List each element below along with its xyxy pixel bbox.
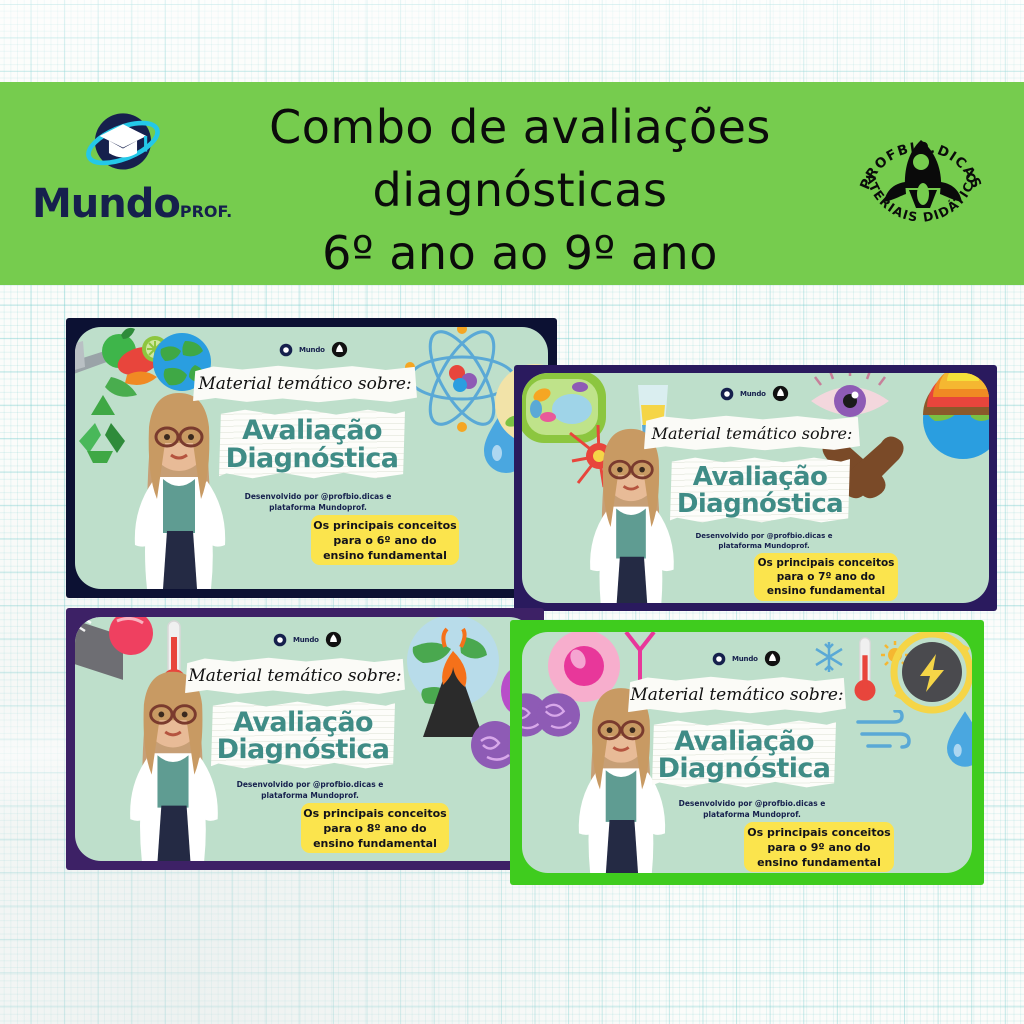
page-title: Combo de avaliações diagnósticas 6º ano … (225, 96, 815, 285)
card-8ano-highlight: Os principais conceitos para o 8º ano do… (301, 803, 449, 853)
card-6ano-dev-note: Desenvolvido por @profbio.dicas e plataf… (223, 491, 413, 513)
card-7ano-mini-brand: Mundo (720, 385, 789, 402)
card-7ano-dev-note: Desenvolvido por @profbio.dicas e plataf… (672, 531, 856, 551)
card-9ano-script-text: Material temático sobre: (628, 676, 846, 714)
mini-mundo-icon (273, 633, 287, 647)
card-7ano-inner: Mundo Material temático sobre: Avaliação… (522, 373, 989, 603)
card-8ano-script-strip: Material temático sobre: (185, 657, 405, 695)
card-8ano-dev-note: Desenvolvido por @profbio.dicas e plataf… (217, 779, 403, 801)
card-8ano[interactable]: Mundo Material temático sobre: Avaliação… (66, 608, 544, 870)
earth-layers-icon (915, 373, 989, 463)
card-9ano-mini-brand: Mundo (712, 650, 781, 667)
card-6ano-highlight: Os principais conceitos para o 6º ano do… (311, 515, 459, 565)
card-6ano-script-text: Material temático sobre: (193, 365, 417, 403)
card-9ano[interactable]: Mundo Material temático sobre: Avaliação… (510, 620, 984, 885)
mini-mundo-icon (279, 343, 293, 357)
card-7ano-highlight: Os principais conceitos para o 7º ano do… (754, 553, 898, 601)
mini-mundo-icon (712, 652, 726, 666)
mundoprof-wordmark: MundoPROF. (32, 182, 222, 234)
mini-rocket-icon (325, 631, 342, 648)
card-6ano-script-strip: Material temático sobre: (193, 365, 417, 403)
mundoprof-logo: MundoPROF. (32, 104, 222, 264)
card-9ano-title-strip: Avaliação Diagnóstica (652, 720, 836, 788)
card-7ano-title-strip: Avaliação Diagnóstica (670, 457, 850, 523)
card-7ano-script-text: Material temático sobre: (644, 415, 860, 451)
header-band: MundoPROF. Combo de avaliações diagnósti… (0, 82, 1024, 285)
card-8ano-title-strip: Avaliação Diagnóstica (211, 701, 395, 769)
profbio-badge: PROFBIO.DICAS MATERIAIS DIDÁTICOS (846, 104, 996, 254)
snowflake-icon (812, 640, 846, 674)
card-6ano-inner: Mundo Material temático sobre: Avaliação… (75, 327, 548, 589)
card-7ano[interactable]: Mundo Material temático sobre: Avaliação… (514, 365, 997, 611)
wind-icon (854, 710, 918, 754)
card-6ano-title-strip: Avaliação Diagnóstica (219, 409, 405, 479)
energy-bolt-icon (886, 632, 972, 718)
card-9ano-script-strip: Material temático sobre: (628, 676, 846, 714)
thermometer-icon (850, 636, 880, 706)
card-9ano-dev-note: Desenvolvido por @profbio.dicas e plataf… (658, 798, 846, 820)
mini-mundo-icon (720, 387, 734, 401)
card-6ano-mini-brand: Mundo (279, 341, 348, 358)
mini-rocket-icon (772, 385, 789, 402)
card-8ano-mini-brand: Mundo (273, 631, 342, 648)
card-8ano-script-text: Material temático sobre: (185, 657, 405, 695)
card-7ano-script-strip: Material temático sobre: (644, 415, 860, 451)
card-9ano-highlight: Os principais conceitos para o 9º ano do… (744, 822, 894, 872)
card-8ano-inner: Mundo Material temático sobre: Avaliação… (75, 617, 535, 861)
card-9ano-inner: Mundo Material temático sobre: Avaliação… (522, 632, 972, 873)
card-6ano[interactable]: Mundo Material temático sobre: Avaliação… (66, 318, 557, 598)
mini-rocket-icon (764, 650, 781, 667)
graduation-cap-icon (84, 104, 162, 182)
water-drop-icon (942, 708, 972, 770)
mini-rocket-icon (331, 341, 348, 358)
